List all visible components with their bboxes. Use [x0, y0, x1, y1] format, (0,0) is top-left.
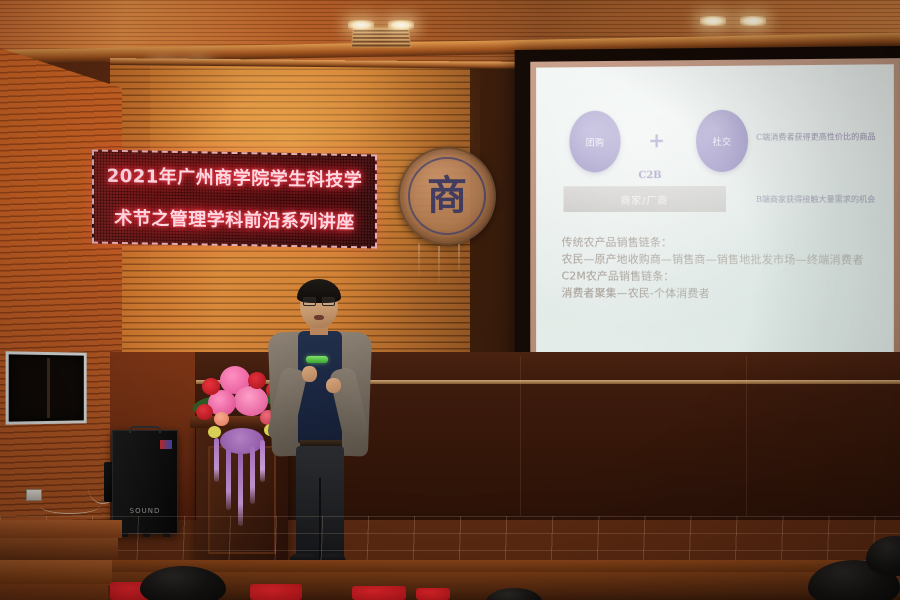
wall-seam	[520, 356, 521, 516]
projection-screen: 团购 + 社交 C2B 商家/厂商 C端消费者获得更高性价比的商品 B端商家获得…	[536, 64, 894, 369]
hanging-flower-strand	[226, 448, 231, 510]
wall-seam	[746, 356, 747, 516]
speaker-logo: SOUND	[130, 507, 161, 515]
stage-steps	[0, 512, 122, 600]
flower-carnation	[214, 412, 229, 426]
note-consumer-benefit: C端消费者获得更高性价比的商品	[756, 131, 876, 143]
bubble-groupbuy-label: 团购	[586, 135, 605, 148]
school-emblem: 商	[398, 147, 496, 245]
ceiling-light	[388, 20, 414, 30]
hand-right	[326, 378, 341, 393]
slide-body-text: 传统农产品销售链条： 农民—原产地收购商—销售商—销售地批发市场—终端消费者 C…	[562, 234, 892, 303]
hanging-flower-strand	[250, 446, 255, 504]
flower-rose	[202, 378, 220, 395]
slide-body-line-3: 消费者聚集—农民-个体消费者	[562, 284, 892, 303]
control-booth-window	[6, 351, 87, 425]
emblem-tassel	[438, 246, 440, 288]
screen-mat-border: 团购 + 社交 C2B 商家/厂商 C端消费者获得更高性价比的商品 B端商家获得…	[530, 58, 900, 376]
merchant-bar: 商家/厂商	[564, 186, 726, 212]
plus-operator: +	[648, 130, 665, 150]
speaker-badge	[160, 440, 172, 449]
projection-screen-frame: 团购 + 社交 C2B 商家/厂商 C端消费者获得更高性价比的商品 B端商家获得…	[515, 46, 900, 390]
lecture-hall-photo: 2021年广州商学院学生科技学 术节之管理学科前沿系列讲座 商 团购 + 社交 …	[0, 0, 900, 600]
bubble-groupbuy: 团购	[569, 111, 620, 173]
merchant-bar-label: 商家/厂商	[620, 192, 668, 207]
glasses-icon	[303, 297, 335, 306]
slide-body-line-2: C2M农产品销售链条：	[562, 268, 892, 286]
stage-step	[0, 560, 112, 584]
ceiling-light	[348, 20, 374, 30]
flower-yellow	[208, 426, 221, 438]
slide-body-line-0: 传统农产品销售链条：	[562, 234, 892, 252]
power-outlet	[26, 489, 42, 501]
presentation-slide: 团购 + 社交 C2B 商家/厂商 C端消费者获得更高性价比的商品 B端商家获得…	[536, 64, 894, 369]
note-merchant-benefit: B端商家获得接触大量需求的机会	[756, 194, 875, 205]
emblem-tassel	[418, 244, 420, 280]
banner-line-2: 术节之管理学科前沿系列讲座	[94, 198, 375, 245]
stage-step	[0, 538, 118, 560]
ceiling-light	[700, 16, 726, 26]
emblem-tassel	[458, 244, 460, 278]
led-banner: 2021年广州商学院学生科技学 术节之管理学科前沿系列讲座	[92, 150, 377, 249]
banner-line-1: 2021年广州商学院学生科技学	[94, 156, 375, 203]
bubble-social: 社交	[696, 110, 748, 172]
bubble-social-label: 社交	[712, 134, 731, 147]
slide-body-line-1: 农民—原产地收购商—销售商—销售地批发市场—终端消费者	[562, 251, 892, 269]
seat-ribbon	[352, 586, 406, 600]
ceiling-light	[740, 16, 766, 26]
hanging-flower-strand	[214, 438, 219, 482]
flower-rose	[196, 404, 213, 420]
c2b-label: C2B	[638, 170, 661, 181]
emblem-character: 商	[427, 176, 467, 216]
presenter-remote	[306, 356, 328, 363]
stage-step	[0, 520, 122, 538]
seat-ribbon	[250, 584, 302, 600]
hanging-flower-strand	[238, 452, 243, 526]
seat-ribbon	[416, 588, 450, 600]
air-vent	[351, 27, 411, 47]
speaker-handle	[129, 426, 161, 433]
stage-step	[0, 584, 108, 600]
mouth	[314, 315, 324, 320]
hand-left	[302, 366, 317, 382]
